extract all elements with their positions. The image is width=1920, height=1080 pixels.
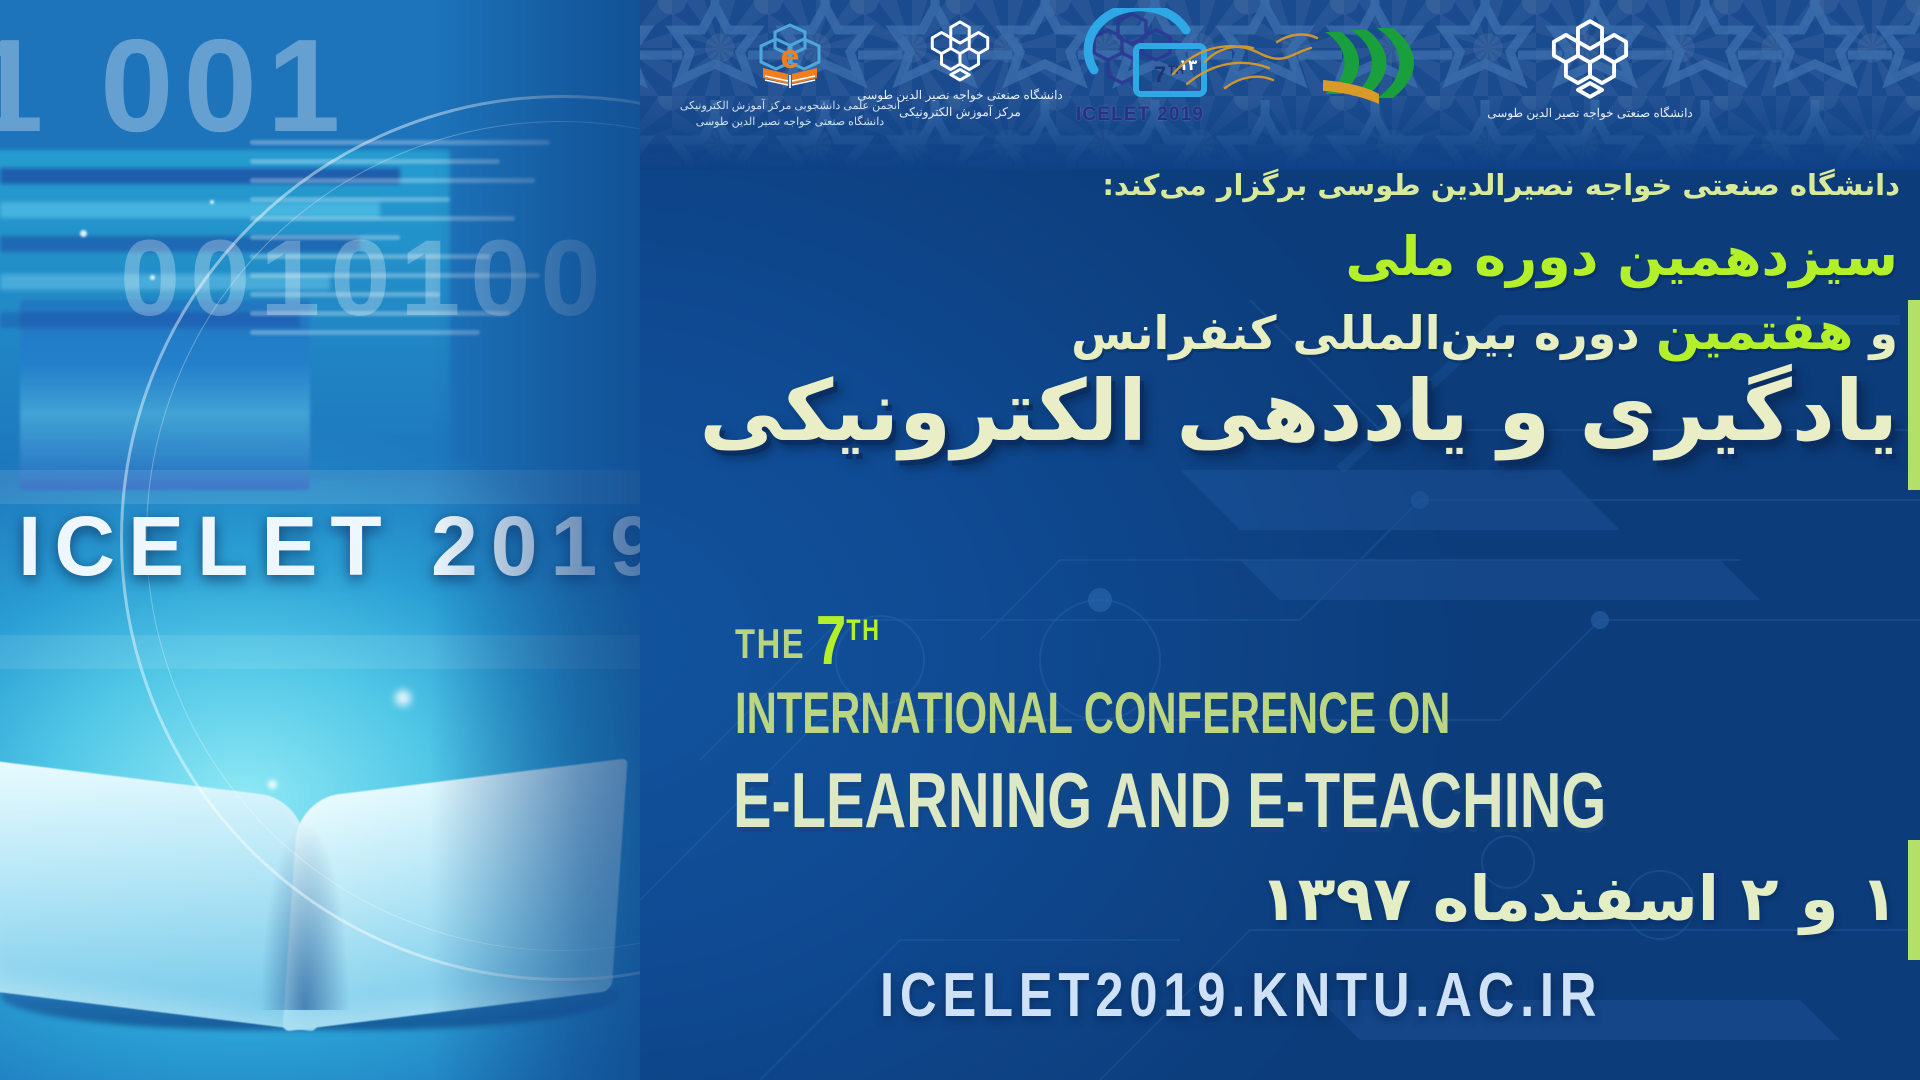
- book-photo-panel: 1 001 0010100 ICELET 2019: [0, 0, 640, 1080]
- svg-text:e: e: [781, 38, 800, 76]
- the-word: THE: [735, 620, 805, 667]
- ordinal-suffix: TH: [846, 614, 880, 647]
- persian-national-edition-line: سیزدهمین دوره ملی: [798, 225, 1898, 288]
- conference-poster: 1 001 0010100 ICELET 2019: [0, 0, 1920, 1080]
- conference-website-url[interactable]: ICELET2019.KNTU.AC.IR: [880, 960, 1602, 1031]
- english-the-seventh: THE 7TH: [735, 600, 881, 680]
- kntu-hex-cube-icon: [1547, 16, 1633, 102]
- organizer-line: دانشگاه صنعتی خواجه نصیرالدین طوسی برگزا…: [900, 168, 1900, 202]
- logo-iranian-e-learning-association[interactable]: [1165, 18, 1425, 108]
- ordinal-number: 7: [816, 601, 846, 679]
- header-logo-row: e انجمن علمی دانشجویی مرکز آموزش الکترون…: [640, 0, 1920, 165]
- kntu-hex-cube-icon: [927, 18, 993, 84]
- suffix: دوره بین‌المللی کنفرانس: [1071, 306, 1656, 360]
- persian-date: ۱ و ۲ اسفندماه ۱۳۹۷: [698, 862, 1898, 935]
- accent-bar-mid: [1908, 840, 1920, 960]
- english-conference-line: INTERNATIONAL CONFERENCE ON: [735, 680, 1450, 747]
- highlight-seventh: هفتمین: [1656, 302, 1854, 362]
- logo-kntu-university[interactable]: دانشگاه صنعتی خواجه نصیر الدین طوسی: [1440, 10, 1740, 122]
- accent-bar-top: [1908, 300, 1920, 490]
- persian-international-edition-line: و هفتمین دوره بین‌المللی کنفرانس: [698, 302, 1898, 362]
- hex-e-book-icon: e: [753, 22, 827, 96]
- logo-caption: دانشگاه صنعتی خواجه نصیر الدین طوسی: [1440, 105, 1740, 122]
- english-topic-line: E-LEARNING AND E-TEACHING: [733, 755, 1606, 846]
- persian-conference-title: یادگیری و یاددهی الکترونیکی: [598, 365, 1898, 457]
- prefix: و: [1853, 306, 1898, 360]
